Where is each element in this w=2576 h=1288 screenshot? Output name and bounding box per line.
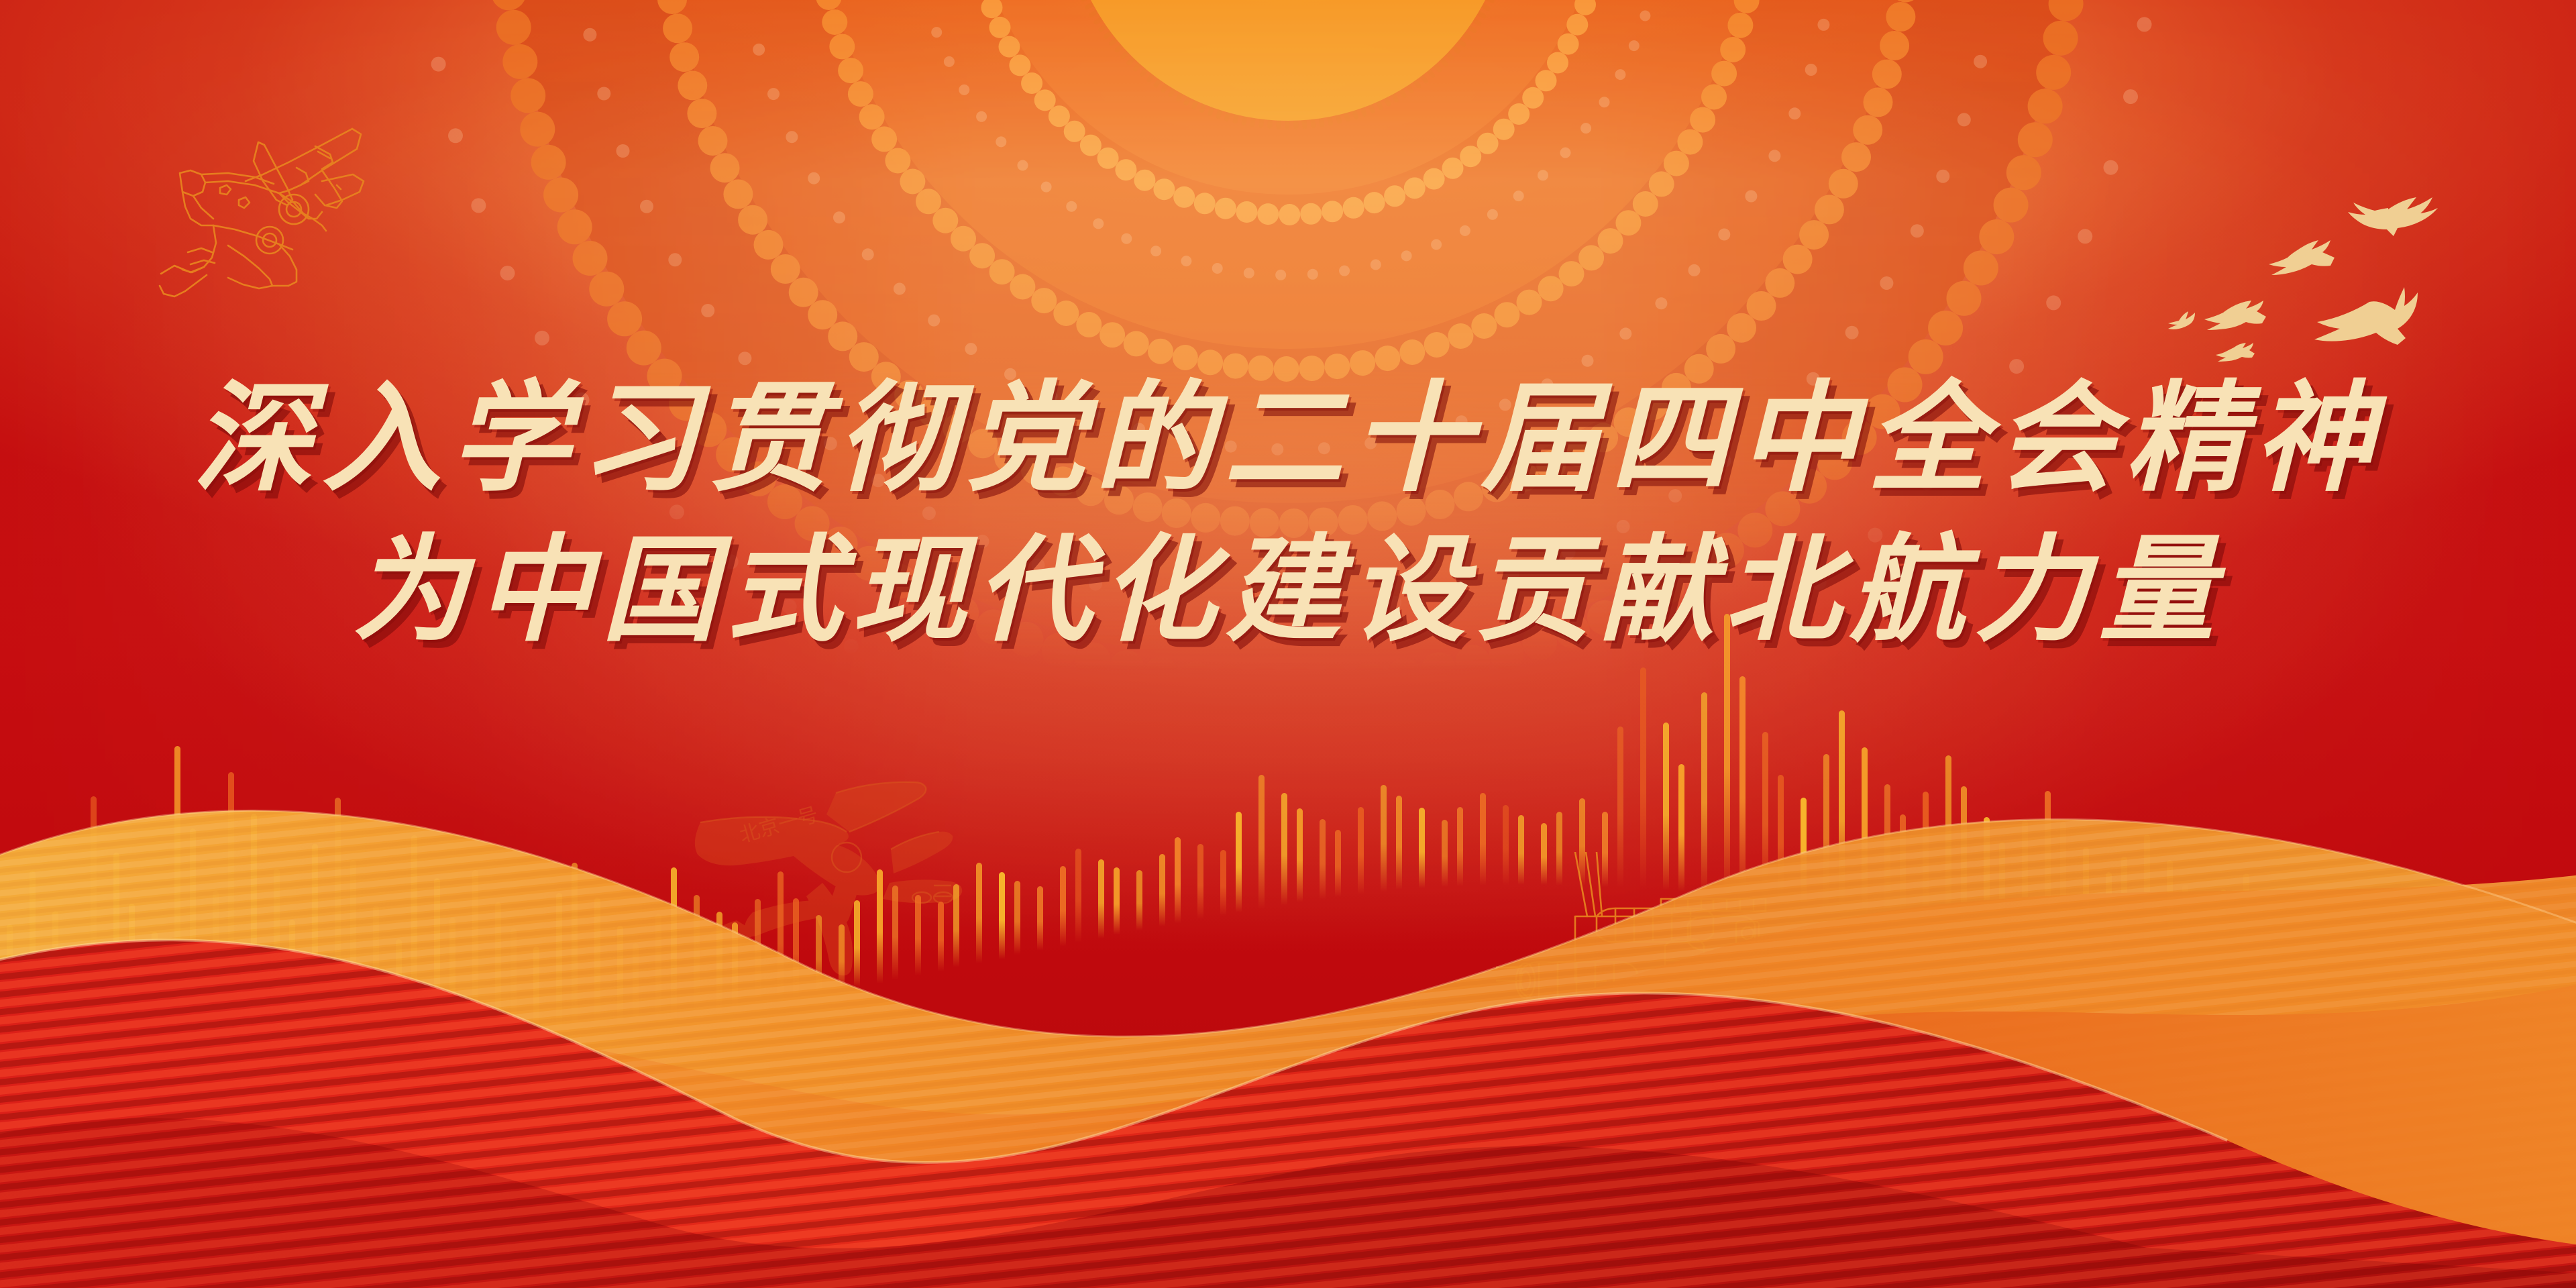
bird-icon <box>2216 343 2255 362</box>
bird-icon <box>2314 287 2418 345</box>
equalizer-bar <box>999 872 1005 959</box>
bird-icon <box>2204 301 2266 330</box>
equalizer-bar <box>1114 867 1120 934</box>
equalizer-bar <box>289 920 295 1037</box>
equalizer-bar <box>68 950 74 1014</box>
beijing-one-aircraft: 北京一号 <box>678 778 986 1000</box>
equalizer-bar <box>1258 775 1265 909</box>
flying-birds-group <box>2167 168 2529 382</box>
title-line-1: 深入学习贯彻党的二十届四中全会精神 <box>0 362 2576 517</box>
equalizer-bar <box>1358 807 1364 894</box>
equalizer-bar <box>1999 842 2005 943</box>
equalizer-bar <box>495 902 501 1036</box>
equalizer-bar <box>1984 817 1990 938</box>
equalizer-bar <box>1236 812 1242 912</box>
equalizer-bar <box>52 911 58 1012</box>
equalizer-bar <box>472 870 478 1038</box>
equalizer-bar <box>1457 807 1463 886</box>
equalizer-bar <box>228 772 234 1034</box>
wave-band <box>0 1118 2576 1288</box>
equalizer-bar <box>1060 866 1066 947</box>
equalizer-bar <box>213 891 219 1032</box>
equalizer-bar <box>190 828 196 1030</box>
equalizer-bar <box>1961 786 1967 934</box>
equalizer-bar <box>1381 785 1387 892</box>
fighter-jet-icon <box>121 87 389 322</box>
equalizer-bar <box>533 947 539 1034</box>
equalizer-bar <box>396 939 402 1040</box>
equalizer-bar <box>1396 796 1402 890</box>
equalizer-bar <box>2144 835 2150 975</box>
equalizer-bar <box>1839 710 1845 912</box>
equalizer-bar <box>7 924 13 1005</box>
equalizer-bar <box>411 835 417 1040</box>
equalizer-bar <box>1220 850 1226 916</box>
equalizer-bar <box>113 853 119 1020</box>
equalizer-bar <box>1480 793 1486 885</box>
equalizer-bar <box>633 943 639 1024</box>
equalizer-bar <box>373 906 379 1040</box>
equalizer-bar <box>434 878 440 1039</box>
equalizer-bar <box>511 928 517 1036</box>
equalizer-bar <box>335 798 341 1039</box>
equalizer-bar <box>449 918 455 1038</box>
equalizer-bar <box>152 932 158 1026</box>
equalizer-bar <box>251 814 257 1035</box>
equalizer-bar <box>1442 820 1448 887</box>
equalizer-bar <box>556 893 562 1032</box>
equalizer-bar <box>350 860 356 1040</box>
equalizer-bar <box>2564 985 2570 1071</box>
equalizer-bar <box>1297 808 1303 902</box>
equalizer-bar <box>671 867 677 1018</box>
equalizer-bar <box>1419 808 1425 888</box>
equalizer-bar <box>2083 847 2089 961</box>
equalizer-bar <box>1197 844 1203 919</box>
equalizer-bar <box>1862 747 1868 915</box>
equalizer-bar <box>2060 822 2066 956</box>
equalizer-bar <box>655 914 661 1021</box>
equalizer-bar <box>2465 960 2471 1053</box>
equalizer-bar <box>1075 849 1081 943</box>
equalizer-bar <box>174 746 180 1028</box>
equalizer-bar <box>312 844 318 1038</box>
equalizer-bar <box>91 796 97 1018</box>
equalizer-bar <box>2526 982 2532 1064</box>
equalizer-bar <box>1037 886 1043 951</box>
equalizer-bar <box>1320 819 1326 900</box>
bird-icon <box>2348 197 2438 236</box>
equalizer-bar <box>572 863 578 1030</box>
equalizer-bar <box>2045 791 2051 952</box>
aircraft-marking: 北京一号 <box>2216 936 2264 959</box>
equalizer-bar <box>2121 857 2127 971</box>
equalizer-bar <box>2106 872 2112 966</box>
bird-icon <box>2168 311 2195 329</box>
equalizer-bar <box>1335 830 1341 897</box>
equalizer-bar <box>1945 755 1951 930</box>
equalizer-bar <box>1281 793 1287 906</box>
title-line-2: 为中国式现代化建设贡献北航力量 <box>0 517 2576 667</box>
equalizer-bar <box>30 871 36 1008</box>
equalizer-bar <box>1159 854 1165 926</box>
bird-icon <box>2269 240 2334 275</box>
equalizer-bar <box>2503 992 2509 1061</box>
equalizer-bar <box>594 898 600 1028</box>
equalizer-bar <box>1175 837 1181 923</box>
equalizer-bar <box>2167 860 2173 981</box>
equalizer-bar <box>617 926 623 1026</box>
equalizer-bar <box>1823 754 1829 908</box>
equalizer-bar <box>129 904 135 1023</box>
equalizer-bar <box>1923 792 1929 926</box>
poster-banner: 北京一号 <box>0 0 2576 1288</box>
equalizer-bar <box>1801 798 1807 905</box>
equalizer-bar <box>274 869 280 1036</box>
equalizer-bar <box>1014 881 1020 955</box>
equalizer-bar <box>2487 977 2493 1057</box>
equalizer-bar <box>1136 870 1142 930</box>
equalizer-bar <box>1884 784 1890 918</box>
poster-title: 深入学习贯彻党的二十届四中全会精神 为中国式现代化建设贡献北航力量 <box>0 362 2576 667</box>
equalizer-bar <box>1098 859 1104 938</box>
equalizer-bar <box>2548 970 2555 1068</box>
equalizer-bar <box>2022 820 2028 947</box>
space-station-icon <box>1496 852 1784 1073</box>
propeller-plane-icon: 北京一号 <box>2180 892 2462 1093</box>
equalizer-bar <box>1900 814 1906 922</box>
